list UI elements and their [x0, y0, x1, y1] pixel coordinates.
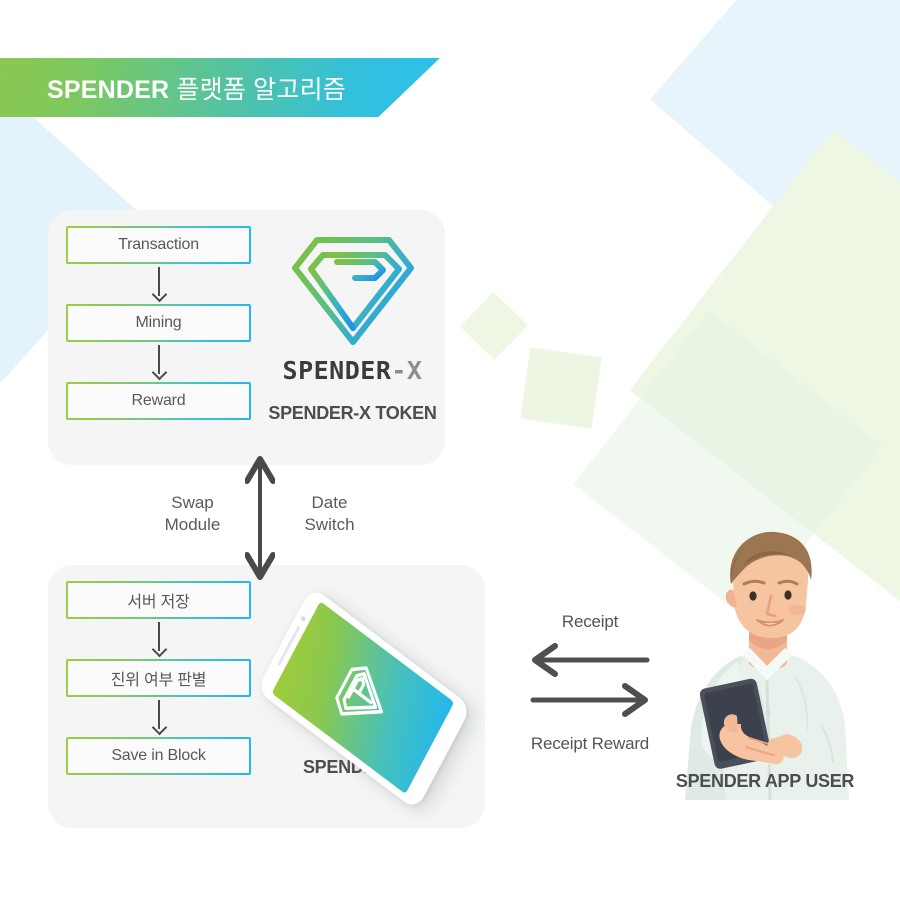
user-caption: SPENDER APP USER: [620, 771, 900, 792]
page-title-subject: 플랫폼 알고리즘: [176, 76, 346, 104]
flow-step-save-in-block[interactable]: Save in Block: [66, 737, 251, 775]
swap-exchange-group: Swap Module Date Switch: [140, 455, 400, 585]
token-panel: Transaction Mining Reward: [48, 210, 445, 465]
token-wordmark-main: SPENDER: [283, 356, 392, 385]
token-flow-column: Transaction Mining Reward: [66, 226, 251, 420]
double-headed-vertical-arrow-icon: [245, 455, 275, 581]
date-switch-label-line2: Switch: [282, 514, 377, 536]
diamond-gem-icon: [287, 230, 419, 352]
smartphone-icon: [253, 587, 478, 737]
token-visual-group: SPENDER-X SPENDER-X TOKEN: [260, 230, 445, 424]
app-flow-column: 서버 저장 진위 여부 판별 Save in Block: [66, 581, 251, 775]
user-illustration-group: [645, 528, 890, 803]
flow-arrow-down-icon: [152, 619, 166, 659]
token-caption: SPENDER-X TOKEN: [260, 403, 445, 424]
app-visual-group: SPENDER APP: [253, 587, 478, 778]
date-switch-label-line1: Date: [282, 492, 377, 514]
bg-square-green-small-b: [520, 347, 601, 428]
date-switch-label: Date Switch: [282, 492, 377, 536]
flow-step-authenticity-check[interactable]: 진위 여부 판별: [66, 659, 251, 697]
flow-arrow-down-icon: [152, 264, 166, 304]
diamond-gem-icon: [326, 653, 400, 741]
page-title-brand: SPENDER: [47, 76, 169, 104]
token-wordmark: SPENDER-X: [260, 356, 445, 385]
swap-module-label-line2: Module: [145, 514, 240, 536]
page-title: SPENDER 플랫폼 알고리즘: [0, 70, 346, 106]
flow-step-transaction[interactable]: Transaction: [66, 226, 251, 264]
header-banner: SPENDER 플랫폼 알고리즘: [0, 58, 440, 117]
app-panel: 서버 저장 진위 여부 판별 Save in Block: [48, 565, 485, 828]
flow-arrow-down-icon: [152, 697, 166, 737]
swap-module-label: Swap Module: [145, 492, 240, 536]
flow-step-server-store[interactable]: 서버 저장: [66, 581, 251, 619]
flow-step-reward[interactable]: Reward: [66, 382, 251, 420]
flow-step-mining[interactable]: Mining: [66, 304, 251, 342]
token-wordmark-suffix: -X: [391, 356, 422, 385]
flow-arrow-down-icon: [152, 342, 166, 382]
phone-camera: [300, 615, 306, 622]
swap-module-label-line1: Swap: [145, 492, 240, 514]
bg-square-green-small-a: [460, 292, 528, 360]
person-holding-phone-illustration: [645, 528, 890, 803]
